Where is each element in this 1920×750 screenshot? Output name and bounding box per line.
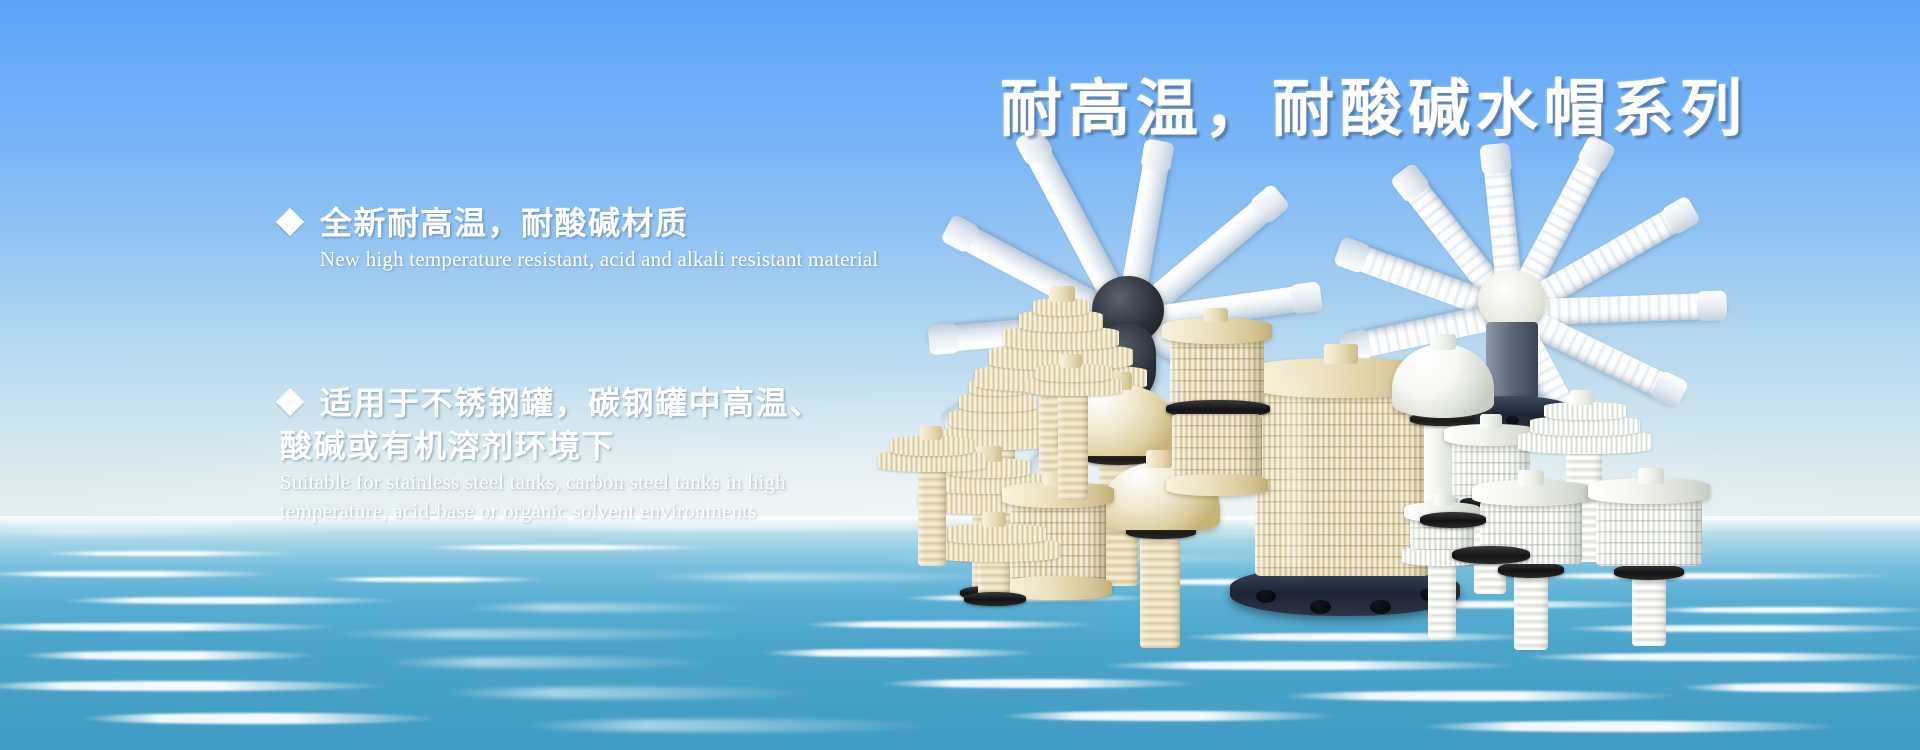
feature-bullet-2: 适用于不锈钢罐，碳钢罐中高温、 酸碱或有机溶剂环境下 Suitable for …	[280, 382, 823, 524]
feature-2-cn-line-1: 适用于不锈钢罐，碳钢罐中高温、	[320, 382, 823, 425]
feature-2-en-line-2: temperature, acid-base or organic solven…	[280, 499, 823, 525]
oring-accent-1	[1452, 546, 1530, 564]
feature-1-en-line-1: New high temperature resistant, acid and…	[320, 247, 878, 273]
feature-1-cn: 全新耐高温，耐酸碱材质	[320, 202, 689, 245]
diamond-bullet-icon	[276, 208, 304, 236]
feature-2-en-line-1: Suitable for stainless steel tanks, carb…	[280, 470, 823, 496]
promo-banner: 耐高温，耐酸碱水帽系列 全新耐高温，耐酸碱材质 New high tempera…	[0, 0, 1920, 750]
oring-accent-2	[1420, 512, 1486, 528]
diamond-bullet-icon	[276, 388, 304, 416]
feature-bullet-1: 全新耐高温，耐酸碱材质 New high temperature resista…	[280, 202, 878, 272]
page-title: 耐高温，耐酸碱水帽系列	[1000, 58, 1748, 148]
feature-2-cn-line-2: 酸碱或有机溶剂环境下	[280, 425, 823, 468]
